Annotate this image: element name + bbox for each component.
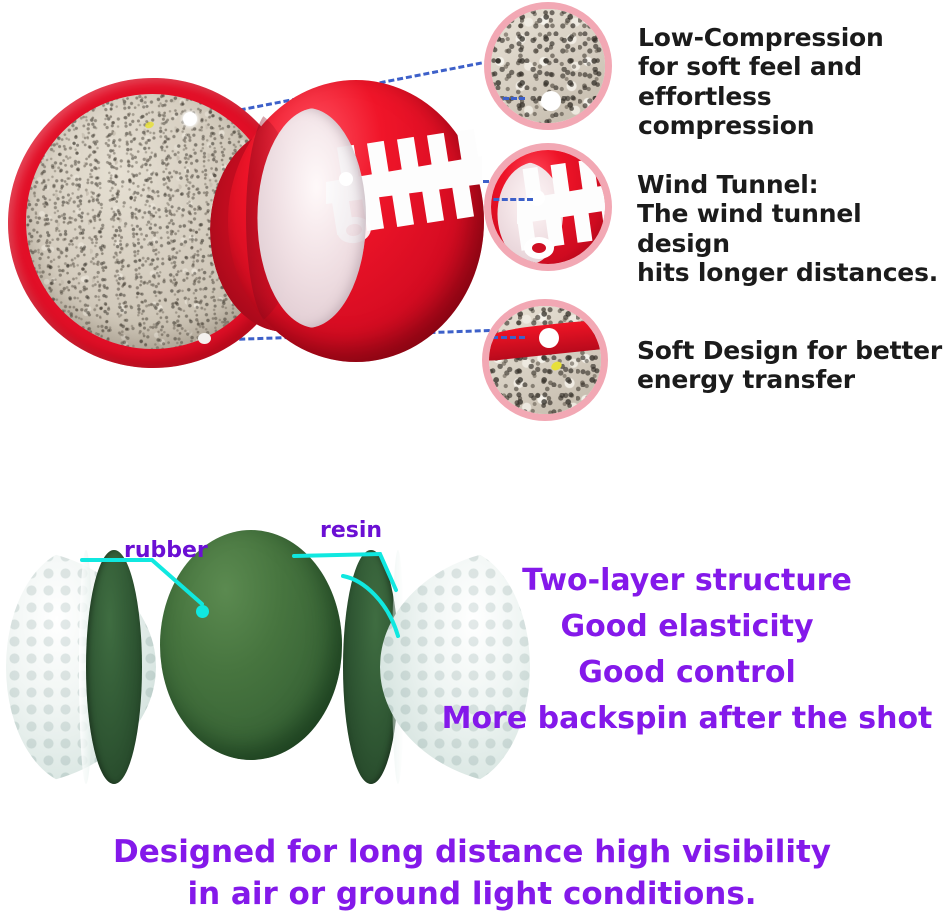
footer-line: in air or ground light conditions. — [0, 874, 944, 916]
feature-item: More backspin after the shot — [430, 696, 944, 742]
anchor-dot-core — [183, 112, 197, 126]
bubble-wind-tunnel — [484, 143, 612, 271]
feature-list: Two-layer structure Good elasticity Good… — [430, 558, 944, 742]
callout-text-low-compression: Low-Compression for soft feel and effort… — [638, 23, 944, 140]
feature-item: Good elasticity — [430, 604, 944, 650]
bubble-low-compression — [484, 2, 612, 130]
feature-item: Two-layer structure — [430, 558, 944, 604]
feature-item: Good control — [430, 650, 944, 696]
footer-line: Designed for long distance high visibili… — [0, 832, 944, 874]
infographic-root: Low-Compression for soft feel and effort… — [0, 0, 944, 919]
bubble-leader-stub — [485, 198, 533, 201]
label-rubber: rubber — [124, 538, 208, 563]
footer-copy: Designed for long distance high visibili… — [0, 832, 944, 916]
bubble-wind-tunnel-stripe-icon — [517, 160, 612, 270]
anchor-dot-wind-tunnel — [339, 172, 353, 186]
anchor-dot-rubber — [196, 605, 209, 618]
bubble-soft-design — [482, 299, 608, 421]
callout-text-wind-tunnel: Wind Tunnel: The wind tunnel design hits… — [637, 170, 944, 287]
top-section: Low-Compression for soft feel and effort… — [0, 0, 944, 470]
bubble-anchor-dot — [541, 91, 561, 111]
bubble-leader-stub — [487, 97, 525, 100]
callout-text-soft-design: Soft Design for better energy transfer — [637, 336, 942, 395]
anchor-dot-soft-design — [198, 333, 211, 344]
label-resin: resin — [320, 518, 382, 543]
leader-line-resin — [288, 532, 438, 647]
bubble-anchor-dot — [539, 328, 559, 348]
bubble-leader-stub — [483, 336, 525, 339]
